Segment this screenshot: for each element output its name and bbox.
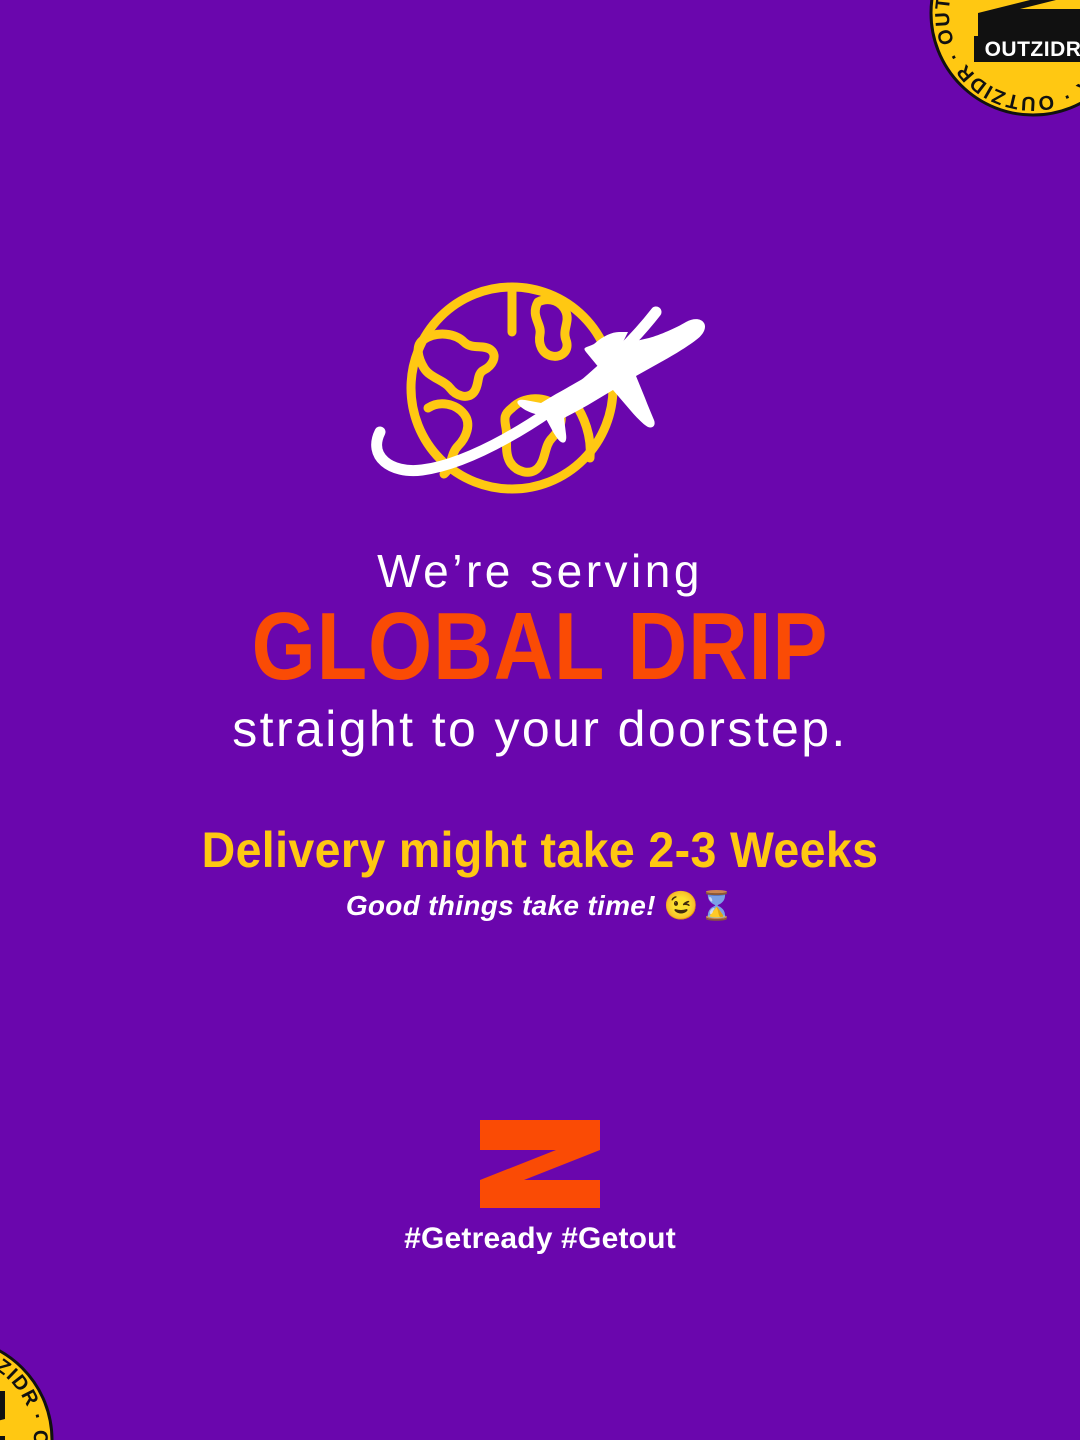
footer-block: #Getready #Getout	[0, 1118, 1080, 1256]
delivery-notice: Delivery might take 2-3 Weeks	[38, 824, 1042, 877]
copy-block: We’re serving GLOBAL DRIP straight to yo…	[0, 548, 1080, 922]
airplane-icon	[517, 319, 705, 442]
reassurance-line: Good things take time! 😉⌛	[0, 889, 1080, 922]
reassurance-text: Good things take time!	[346, 890, 656, 921]
subhead-text: straight to your doorstep.	[0, 704, 1080, 754]
z-logo-icon	[478, 1118, 602, 1210]
hashtags-text: #Getready #Getout	[0, 1222, 1080, 1256]
globe-airplane-icon	[360, 282, 720, 514]
wink-hourglass-emoji: 😉⌛	[664, 890, 734, 921]
promo-poster: OUTZIDR · OUTZIDR · OUTZIDR · OUTZIDR · …	[0, 0, 1080, 1440]
badge-center-text: OUTZIDR	[985, 38, 1080, 61]
eyebrow-text: We’re serving	[0, 548, 1080, 594]
outzidr-badge-top-right: OUTZIDR · OUTZIDR · OUTZIDR · OUTZIDR · …	[928, 0, 1080, 118]
page-title: GLOBAL DRIP	[76, 600, 1005, 694]
outzidr-badge-bottom-left: OUTZIDR · OUTZIDR · OUTZIDR · OUTZIDR · …	[0, 1335, 55, 1440]
